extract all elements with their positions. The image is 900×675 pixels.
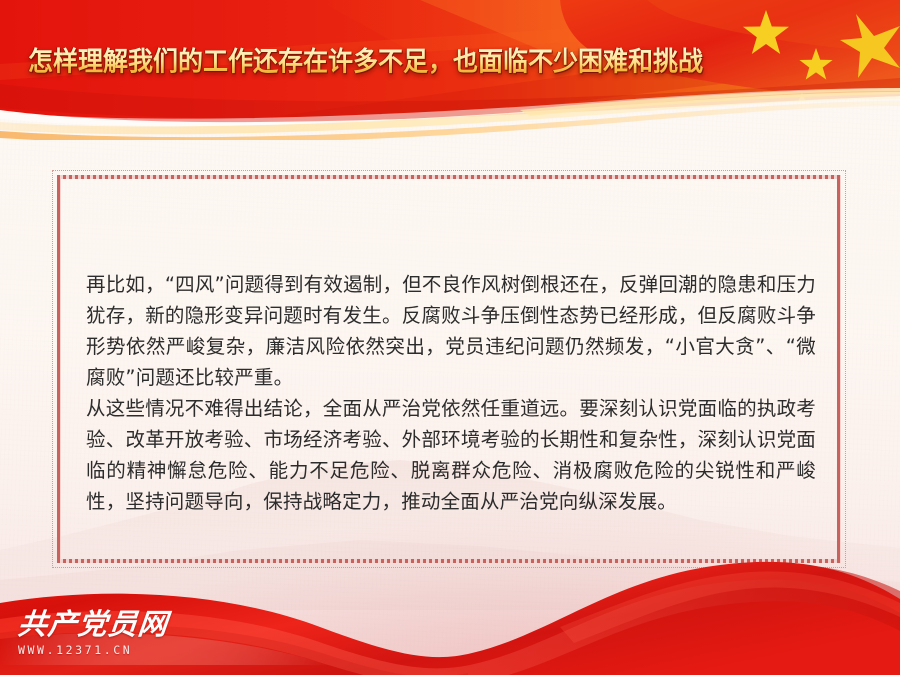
site-logo-url: WWW.12371.CN [18, 643, 168, 657]
content-frame: 再比如，“四风”问题得到有效遏制，但不良作风树倒根还在，反弹回潮的隐患和压力犹存… [52, 170, 846, 568]
page-title: 怎样理解我们的工作还存在许多不足，也面临不少困难和挑战 [28, 46, 703, 78]
header-banner: 怎样理解我们的工作还存在许多不足，也面临不少困难和挑战 [0, 0, 900, 140]
body-paragraph-2: 从这些情况不难得出结论，全面从严治党依然任重道远。要深刻认识党面临的执政考验、改… [86, 393, 816, 517]
title-wrapper: 怎样理解我们的工作还存在许多不足，也面临不少困难和挑战 [28, 47, 703, 77]
site-logo-text: 共产党员网 [16, 609, 169, 639]
content-body: 再比如，“四风”问题得到有效遏制，但不良作风树倒根还在，反弹回潮的隐患和压力犹存… [86, 269, 816, 517]
body-paragraph-1: 再比如，“四风”问题得到有效遏制，但不良作风树倒根还在，反弹回潮的隐患和压力犹存… [86, 269, 816, 393]
poster-canvas: 怎样理解我们的工作还存在许多不足，也面临不少困难和挑战 再比如，“四风”问题得到… [0, 0, 900, 675]
site-watermark: 共产党员网 WWW.12371.CN [18, 609, 168, 657]
